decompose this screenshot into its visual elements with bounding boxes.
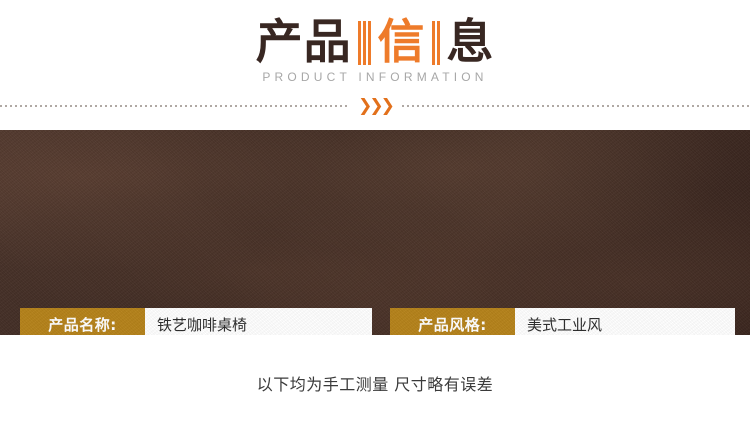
- product-spec-panel: 产品名称: 铁艺咖啡桌椅 产品材质: 进口松木+优质钢铁 产品尺寸: 如图所示（…: [0, 130, 750, 335]
- header-divider: ❯❯❯: [0, 98, 750, 114]
- title-divider-bars-left-icon: [358, 21, 371, 65]
- page-header: 产品 信 息 PRODUCT INFORMATION ❯❯❯: [0, 0, 750, 130]
- spec-value-product-style: 美式工业风: [515, 308, 735, 335]
- page-title-part-1: 产品: [256, 15, 352, 70]
- divider-dots-left: [0, 105, 348, 107]
- spec-value-product-name: 铁艺咖啡桌椅: [145, 308, 372, 335]
- title-divider-bars-right-icon: [432, 21, 440, 65]
- page-footer: 以下均为手工测量 尺寸略有误差: [0, 335, 750, 430]
- page-title-part-2: 信: [378, 15, 426, 70]
- spec-row-product-style: 产品风格: 美式工业风: [390, 308, 735, 335]
- page-subtitle: PRODUCT INFORMATION: [0, 70, 750, 84]
- spec-label-product-style: 产品风格:: [390, 308, 515, 335]
- spec-row-product-name: 产品名称: 铁艺咖啡桌椅: [20, 308, 372, 335]
- chevrons-right-icon: ❯❯❯: [348, 98, 402, 114]
- measurement-disclaimer: 以下均为手工测量 尺寸略有误差: [257, 371, 494, 395]
- page-title-part-3: 息: [446, 15, 494, 70]
- spec-grid: 产品名称: 铁艺咖啡桌椅 产品材质: 进口松木+优质钢铁 产品尺寸: 如图所示（…: [0, 130, 750, 335]
- page-title: 产品 信 息: [0, 14, 750, 72]
- divider-dots-right: [402, 105, 750, 107]
- spec-label-product-name: 产品名称:: [20, 308, 145, 335]
